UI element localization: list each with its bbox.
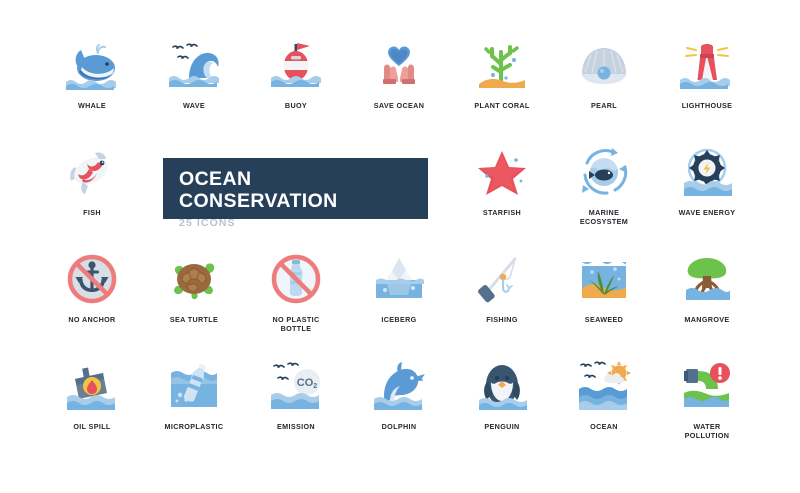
icon-cell-microplastic[interactable]: MICROPLASTIC [143,355,245,432]
emission-icon[interactable]: CO2 [265,355,327,417]
icon-cell-sea-turtle[interactable]: SEA TURTLE [143,248,245,325]
plant-coral-icon[interactable] [471,34,533,96]
dolphin-icon[interactable] [368,355,430,417]
icon-cell-dolphin[interactable]: DOLPHIN [348,355,450,432]
icon-cell-whale[interactable]: WHALE [41,34,143,111]
icon-label: EMISSION [245,423,347,432]
no-plastic-bottle-icon[interactable] [265,248,327,310]
buoy-icon[interactable] [265,34,327,96]
starfish-icon[interactable] [471,141,533,203]
icon-label: SAVE OCEAN [348,102,450,111]
icon-label: WAVE [143,102,245,111]
sea-turtle-icon[interactable] [163,248,225,310]
icon-label: SEA TURTLE [143,316,245,325]
icon-label: MANGROVE [656,316,758,325]
icon-label: NO ANCHOR [41,316,143,325]
icon-cell-ocean[interactable]: OCEAN [553,355,655,432]
banner-subtitle: 25 ICONS [179,216,412,230]
icon-cell-iceberg[interactable]: ICEBERG [348,248,450,325]
ocean-icon[interactable] [573,355,635,417]
icon-cell-penguin[interactable]: PENGUIN [451,355,553,432]
wave-energy-icon[interactable] [676,141,738,203]
penguin-icon[interactable] [471,355,533,417]
icon-cell-wave[interactable]: WAVE [143,34,245,111]
icon-cell-wave-energy[interactable]: WAVE ENERGY [656,141,758,218]
microplastic-icon[interactable] [163,355,225,417]
icon-label: MARINE ECOSYSTEM [553,209,655,226]
icon-label: LIGHTHOUSE [656,102,758,111]
icon-cell-fish[interactable]: FISH [41,141,143,218]
icon-cell-emission[interactable]: CO2 EMISSION [245,355,347,432]
banner-title: OCEAN CONSERVATION [179,168,412,212]
icon-label: MICROPLASTIC [143,423,245,432]
icon-label: PENGUIN [451,423,553,432]
icon-cell-water-pollution[interactable]: WATER POLLUTION [656,355,758,440]
icon-label: WHALE [41,102,143,111]
icon-cell-fishing[interactable]: FISHING [451,248,553,325]
title-banner: OCEAN CONSERVATION 25 ICONS [163,158,428,219]
icon-label: DOLPHIN [348,423,450,432]
icon-cell-oil-spill[interactable]: OIL SPILL [41,355,143,432]
fishing-icon[interactable] [471,248,533,310]
icon-cell-seaweed[interactable]: SEAWEED [553,248,655,325]
icon-sheet: WHALE WAVE [0,0,800,493]
icon-cell-plant-coral[interactable]: PLANT CORAL [451,34,553,111]
icon-cell-marine-ecosystem[interactable]: MARINE ECOSYSTEM [553,141,655,226]
icon-cell-save-ocean[interactable]: SAVE OCEAN [348,34,450,111]
seaweed-icon[interactable] [573,248,635,310]
water-pollution-icon[interactable] [676,355,738,417]
no-anchor-icon[interactable] [61,248,123,310]
icon-cell-mangrove[interactable]: MANGROVE [656,248,758,325]
save-ocean-icon[interactable] [368,34,430,96]
icon-label: BUOY [245,102,347,111]
icon-label: STARFISH [451,209,553,218]
icon-label: NO PLASTIC BOTTLE [245,316,347,333]
icon-label: WAVE ENERGY [656,209,758,218]
icon-cell-starfish[interactable]: STARFISH [451,141,553,218]
icon-grid: WHALE WAVE [41,34,773,459]
icon-label: SEAWEED [553,316,655,325]
icon-label: OIL SPILL [41,423,143,432]
oil-spill-icon[interactable] [61,355,123,417]
icon-label: ICEBERG [348,316,450,325]
marine-ecosystem-icon[interactable] [573,141,635,203]
pearl-icon[interactable] [573,34,635,96]
icon-label: FISH [41,209,143,218]
icon-cell-pearl[interactable]: PEARL [553,34,655,111]
wave-icon[interactable] [163,34,225,96]
icon-label: PLANT CORAL [451,102,553,111]
icon-label: FISHING [451,316,553,325]
icon-cell-no-anchor[interactable]: NO ANCHOR [41,248,143,325]
lighthouse-icon[interactable] [676,34,738,96]
whale-icon[interactable] [61,34,123,96]
icon-cell-no-plastic-bottle[interactable]: NO PLASTIC BOTTLE [245,248,347,333]
co2-subscript: 2 [313,383,317,390]
icon-label: PEARL [553,102,655,111]
icon-cell-lighthouse[interactable]: LIGHTHOUSE [656,34,758,111]
iceberg-icon[interactable] [368,248,430,310]
icon-label: OCEAN [553,423,655,432]
icon-cell-buoy[interactable]: BUOY [245,34,347,111]
mangrove-icon[interactable] [676,248,738,310]
fish-icon[interactable] [61,141,123,203]
icon-label: WATER POLLUTION [656,423,758,440]
